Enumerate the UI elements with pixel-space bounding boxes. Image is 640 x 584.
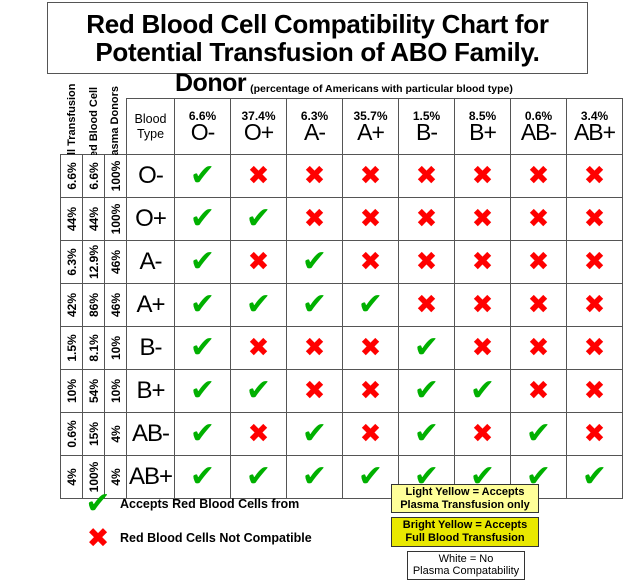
table-row: 6.6%6.6%100%O-✔✖✖✖✖✖✖✖	[61, 155, 623, 198]
check-mark-icon: ✔	[414, 419, 439, 449]
recipient-plasma-donors-5: 10%	[105, 370, 127, 413]
donor-column-header-7: 3.4% AB+	[567, 99, 623, 155]
recipient-red-blood-cell-value-6: 15%	[87, 422, 101, 446]
cross-mark-icon: ✖	[360, 378, 382, 404]
recipient-plasma-donors-value-4: 10%	[109, 336, 123, 360]
recipient-full-transfusion-0: 6.6%	[61, 155, 83, 198]
donor-type-1: O+	[231, 121, 286, 144]
compat-cell-AB--O+: ✖	[231, 413, 287, 456]
check-mark-icon: ✔	[414, 376, 439, 406]
donor-column-header-2: 6.3% A-	[287, 99, 343, 155]
recipient-red-blood-cell-1: 44%	[83, 198, 105, 241]
compat-cell-B+-AB-: ✖	[511, 370, 567, 413]
compat-cell-B+-A+: ✖	[343, 370, 399, 413]
compat-cell-O+-AB-: ✖	[511, 198, 567, 241]
recipient-blood-type-6: AB-	[127, 413, 175, 456]
donor-column-header-3: 35.7% A+	[343, 99, 399, 155]
cross-mark-icon: ✖	[472, 421, 494, 447]
chart-title: Red Blood Cell Compatibility Chart for P…	[47, 2, 588, 74]
recipient-full-transfusion-2: 6.3%	[61, 241, 83, 284]
table-row: 1.5%8.1%10%B-✔✖✖✖✔✖✖✖	[61, 327, 623, 370]
legend-box-light-line2: Plasma Transfusion only	[394, 499, 536, 512]
cross-mark-icon: ✖	[360, 163, 382, 189]
check-mark-icon: ✔	[190, 419, 215, 449]
cross-mark-icon: ✖	[528, 206, 550, 232]
compat-cell-B+-AB+: ✖	[567, 370, 623, 413]
cross-mark-icon: ✖	[416, 249, 438, 275]
cross-mark-icon: ✖	[584, 163, 606, 189]
table-row: 42%86%46%A+✔✔✔✔✖✖✖✖	[61, 284, 623, 327]
compat-cell-A+-A-: ✔	[287, 284, 343, 327]
legend-mark-label-0: Accepts Red Blood Cells from	[120, 497, 299, 511]
compat-cell-B+-B-: ✔	[399, 370, 455, 413]
compat-cell-B--AB-: ✖	[511, 327, 567, 370]
header-red-blood-cell: Red Blood Cell	[83, 99, 105, 155]
recipient-red-blood-cell-4: 8.1%	[83, 327, 105, 370]
compat-cell-B--AB+: ✖	[567, 327, 623, 370]
compat-cell-O--O-: ✔	[175, 155, 231, 198]
donor-column-header-1: 37.4% O+	[231, 99, 287, 155]
compat-cell-B+-O-: ✔	[175, 370, 231, 413]
legend-box-light-line1: Light Yellow = Accepts	[394, 486, 536, 499]
cross-mark-icon: ✖	[248, 335, 270, 361]
header-full-transfusion: Full Transfusion	[61, 99, 83, 155]
check-mark-icon: ✔	[302, 419, 327, 449]
recipient-full-transfusion-value-2: 6.3%	[65, 248, 79, 275]
recipient-blood-type-3: A+	[127, 284, 175, 327]
compat-cell-A+-B-: ✖	[399, 284, 455, 327]
compat-cell-O--AB-: ✖	[511, 155, 567, 198]
donor-column-header-6: 0.6% AB-	[511, 99, 567, 155]
compat-cell-O+-A+: ✖	[343, 198, 399, 241]
compat-cell-O--O+: ✖	[231, 155, 287, 198]
cross-mark-icon: ✖	[416, 163, 438, 189]
compat-cell-A+-AB+: ✖	[567, 284, 623, 327]
header-plasma-donors: Plasma Donors	[105, 99, 127, 155]
check-mark-icon: ✔	[582, 462, 607, 492]
compat-cell-A--AB+: ✖	[567, 241, 623, 284]
recipient-full-transfusion-value-1: 44%	[65, 207, 79, 231]
cross-mark-icon: ✖	[472, 292, 494, 318]
cross-mark-icon: ✖	[304, 378, 326, 404]
donor-type-3: A+	[343, 121, 398, 144]
recipient-plasma-donors-value-6: 4%	[109, 425, 123, 442]
cross-mark-icon: ✖	[360, 249, 382, 275]
compat-cell-O+-A-: ✖	[287, 198, 343, 241]
check-mark-icon: ✔	[526, 419, 551, 449]
recipient-plasma-donors-1: 100%	[105, 198, 127, 241]
legend-box-bright-line1: Bright Yellow = Accepts	[394, 519, 536, 532]
compat-cell-B+-B+: ✔	[455, 370, 511, 413]
donor-type-6: AB-	[511, 121, 566, 144]
compat-cell-B--O-: ✔	[175, 327, 231, 370]
donor-type-7: AB+	[567, 121, 622, 144]
check-mark-icon: ✔	[190, 204, 215, 234]
recipient-axis-label: Recipient (Percenage of Potential Donors…	[0, 134, 32, 479]
compat-cell-A+-O-: ✔	[175, 284, 231, 327]
header-row: Full Transfusion Red Blood Cell Plasma D…	[61, 99, 623, 155]
cross-mark-icon: ✖	[416, 292, 438, 318]
table-row: 10%54%10%B+✔✔✖✖✔✔✖✖	[61, 370, 623, 413]
cross-mark-icon: ✖	[584, 378, 606, 404]
donor-column-header-4: 1.5% B-	[399, 99, 455, 155]
compat-cell-O+-B-: ✖	[399, 198, 455, 241]
recipient-full-transfusion-6: 0.6%	[61, 413, 83, 456]
cross-mark-icon: ✖	[304, 163, 326, 189]
compat-cell-AB--B+: ✖	[455, 413, 511, 456]
compat-cell-A+-AB-: ✖	[511, 284, 567, 327]
check-mark-icon: ✔	[190, 290, 215, 320]
compat-cell-B--O+: ✖	[231, 327, 287, 370]
donor-column-header-0: 6.6% O-	[175, 99, 231, 155]
table-row: 6.3%12.9%46%A-✔✖✔✖✖✖✖✖	[61, 241, 623, 284]
recipient-full-transfusion-value-3: 42%	[65, 293, 79, 317]
compat-cell-O--A-: ✖	[287, 155, 343, 198]
cross-mark-icon: ✖	[528, 163, 550, 189]
cross-mark-icon: ✖	[472, 335, 494, 361]
recipient-blood-type-1: O+	[127, 198, 175, 241]
donor-type-2: A-	[287, 121, 342, 144]
recipient-plasma-donors-6: 4%	[105, 413, 127, 456]
compat-cell-A--A-: ✔	[287, 241, 343, 284]
compat-cell-O--AB+: ✖	[567, 155, 623, 198]
cross-mark-icon: ✖	[360, 335, 382, 361]
recipient-full-transfusion-value-4: 1.5%	[65, 334, 79, 361]
compat-cell-A+-O+: ✔	[231, 284, 287, 327]
recipient-full-transfusion-4: 1.5%	[61, 327, 83, 370]
recipient-full-transfusion-value-5: 10%	[65, 379, 79, 403]
cross-mark-icon: ✖	[584, 335, 606, 361]
check-mark-icon: ✔	[190, 376, 215, 406]
recipient-full-transfusion-3: 42%	[61, 284, 83, 327]
legend-mark-row: ✖ Red Blood Cells Not Compatible	[76, 521, 366, 555]
cross-mark-icon: ✖	[360, 421, 382, 447]
compat-cell-AB--AB-: ✔	[511, 413, 567, 456]
compat-cell-B--A-: ✖	[287, 327, 343, 370]
compat-cell-A--B+: ✖	[455, 241, 511, 284]
recipient-plasma-donors-0: 100%	[105, 155, 127, 198]
cross-mark-icon: ✖	[360, 206, 382, 232]
check-mark-icon: ✔	[470, 376, 495, 406]
recipient-plasma-donors-value-1: 100%	[109, 204, 123, 235]
cross-mark-icon: ✖	[584, 292, 606, 318]
header-blood-type: Blood Type	[127, 99, 175, 155]
compat-cell-A--O-: ✔	[175, 241, 231, 284]
check-mark-icon: ✔	[190, 247, 215, 277]
title-line-1: Red Blood Cell Compatibility Chart for	[86, 10, 548, 38]
compat-cell-O+-B+: ✖	[455, 198, 511, 241]
recipient-plasma-donors-4: 10%	[105, 327, 127, 370]
recipient-plasma-donors-value-2: 46%	[109, 250, 123, 274]
cross-mark-icon: ✖	[472, 163, 494, 189]
check-mark-icon: ✔	[246, 376, 271, 406]
compat-cell-AB--AB+: ✖	[567, 413, 623, 456]
cross-mark-icon: ✖	[528, 335, 550, 361]
compat-cell-AB--O-: ✔	[175, 413, 231, 456]
compat-cell-O+-O+: ✔	[231, 198, 287, 241]
check-mark-icon: ✔	[358, 290, 383, 320]
compat-cell-O+-AB+: ✖	[567, 198, 623, 241]
cross-mark-icon: ✖	[472, 206, 494, 232]
legend-mark-row: ✔ Accepts Red Blood Cells from	[76, 487, 366, 521]
recipient-red-blood-cell-0: 6.6%	[83, 155, 105, 198]
header-blood-type-line1: Blood	[127, 112, 174, 126]
cross-mark-icon: ✖	[472, 249, 494, 275]
compat-cell-O--B+: ✖	[455, 155, 511, 198]
recipient-red-blood-cell-2: 12.9%	[83, 241, 105, 284]
check-mark-icon: ✔	[246, 290, 271, 320]
recipient-blood-type-0: O-	[127, 155, 175, 198]
recipient-plasma-donors-3: 46%	[105, 284, 127, 327]
cross-mark-icon: ✖	[528, 249, 550, 275]
cross-mark-icon: ✖	[584, 249, 606, 275]
table-row: 0.6%15%4%AB-✔✖✔✖✔✖✔✖	[61, 413, 623, 456]
cross-mark-icon: ✖	[248, 249, 270, 275]
recipient-plasma-donors-value-5: 10%	[109, 379, 123, 403]
compat-cell-AB--A+: ✖	[343, 413, 399, 456]
compat-cell-A--AB-: ✖	[511, 241, 567, 284]
compat-cell-A--B-: ✖	[399, 241, 455, 284]
compatibility-table: Full Transfusion Red Blood Cell Plasma D…	[60, 98, 623, 499]
compat-cell-O--A+: ✖	[343, 155, 399, 198]
compat-cell-B--B+: ✖	[455, 327, 511, 370]
cross-mark-icon: ✖	[528, 378, 550, 404]
donor-type-0: O-	[175, 121, 230, 144]
recipient-full-transfusion-value-6: 0.6%	[65, 420, 79, 447]
legend-box-bright-yellow: Bright Yellow = Accepts Full Blood Trans…	[391, 517, 539, 546]
compat-cell-O+-O-: ✔	[175, 198, 231, 241]
compat-cell-B+-A-: ✖	[287, 370, 343, 413]
check-mark-icon: ✔	[190, 333, 215, 363]
recipient-full-transfusion-5: 10%	[61, 370, 83, 413]
recipient-red-blood-cell-6: 15%	[83, 413, 105, 456]
recipient-plasma-donors-value-0: 100%	[109, 161, 123, 192]
compat-cell-AB--B-: ✔	[399, 413, 455, 456]
legend-box-bright-line2: Full Blood Transfusion	[394, 532, 536, 545]
legend-color-boxes: Light Yellow = Accepts Plasma Transfusio…	[391, 484, 539, 584]
donor-column-header-5: 8.5% B+	[455, 99, 511, 155]
cross-mark-icon: ✖	[528, 292, 550, 318]
recipient-blood-type-4: B-	[127, 327, 175, 370]
compat-cell-B+-O+: ✔	[231, 370, 287, 413]
compat-cell-AB+-AB+: ✔	[567, 456, 623, 499]
legend-mark-label-1: Red Blood Cells Not Compatible	[120, 531, 312, 545]
recipient-blood-type-2: A-	[127, 241, 175, 284]
donor-type-4: B-	[399, 121, 454, 144]
table-body: 6.6%6.6%100%O-✔✖✖✖✖✖✖✖44%44%100%O+✔✔✖✖✖✖…	[61, 155, 623, 499]
cross-mark-icon: ✖	[248, 163, 270, 189]
legend-marks: ✔ Accepts Red Blood Cells from ✖ Red Blo…	[76, 487, 366, 555]
recipient-red-blood-cell-3: 86%	[83, 284, 105, 327]
recipient-red-blood-cell-value-2: 12.9%	[87, 245, 101, 279]
check-mark-icon: ✔	[76, 489, 120, 519]
check-mark-icon: ✔	[302, 247, 327, 277]
title-line-2: Potential Transfusion of ABO Family.	[95, 38, 539, 66]
recipient-red-blood-cell-5: 54%	[83, 370, 105, 413]
recipient-plasma-donors-2: 46%	[105, 241, 127, 284]
check-mark-icon: ✔	[190, 161, 215, 191]
cross-mark-icon: ✖	[76, 525, 120, 552]
cross-mark-icon: ✖	[416, 206, 438, 232]
donor-axis-label: Donor (percentage of Americans with part…	[175, 72, 630, 98]
cross-mark-icon: ✖	[584, 206, 606, 232]
donor-axis-title: Donor	[175, 69, 246, 98]
recipient-full-transfusion-1: 44%	[61, 198, 83, 241]
legend-box-white-line1: White = No	[410, 553, 522, 566]
recipient-full-transfusion-value-0: 6.6%	[65, 162, 79, 189]
cross-mark-icon: ✖	[584, 421, 606, 447]
recipient-full-transfusion-value-7: 4%	[65, 468, 79, 485]
legend-box-white-line2: Plasma Compatability	[410, 565, 522, 578]
table-row: 44%44%100%O+✔✔✖✖✖✖✖✖	[61, 198, 623, 241]
compat-cell-B--A+: ✖	[343, 327, 399, 370]
recipient-plasma-donors-value-3: 46%	[109, 293, 123, 317]
donor-axis-subtitle: (percentage of Americans with particular…	[246, 83, 513, 98]
recipient-red-blood-cell-value-1: 44%	[87, 207, 101, 231]
compat-cell-O--B-: ✖	[399, 155, 455, 198]
check-mark-icon: ✔	[414, 333, 439, 363]
check-mark-icon: ✔	[246, 204, 271, 234]
legend-box-light-yellow: Light Yellow = Accepts Plasma Transfusio…	[391, 484, 539, 513]
recipient-blood-type-5: B+	[127, 370, 175, 413]
legend-box-white: White = No Plasma Compatability	[407, 551, 525, 580]
check-mark-icon: ✔	[302, 290, 327, 320]
compat-cell-B--B-: ✔	[399, 327, 455, 370]
recipient-red-blood-cell-value-0: 6.6%	[87, 162, 101, 189]
compat-cell-AB--A-: ✔	[287, 413, 343, 456]
donor-type-5: B+	[455, 121, 510, 144]
compat-cell-A+-A+: ✔	[343, 284, 399, 327]
recipient-red-blood-cell-value-5: 54%	[87, 379, 101, 403]
table-head: Full Transfusion Red Blood Cell Plasma D…	[61, 99, 623, 155]
compat-cell-A--O+: ✖	[231, 241, 287, 284]
cross-mark-icon: ✖	[248, 421, 270, 447]
compat-cell-A+-B+: ✖	[455, 284, 511, 327]
compat-cell-A--A+: ✖	[343, 241, 399, 284]
recipient-red-blood-cell-value-4: 8.1%	[87, 334, 101, 361]
recipient-red-blood-cell-value-3: 86%	[87, 293, 101, 317]
cross-mark-icon: ✖	[304, 206, 326, 232]
chart-root: Red Blood Cell Compatibility Chart for P…	[0, 0, 640, 581]
cross-mark-icon: ✖	[304, 335, 326, 361]
header-blood-type-line2: Type	[127, 127, 174, 141]
recipient-plasma-donors-value-7: 4%	[109, 468, 123, 485]
